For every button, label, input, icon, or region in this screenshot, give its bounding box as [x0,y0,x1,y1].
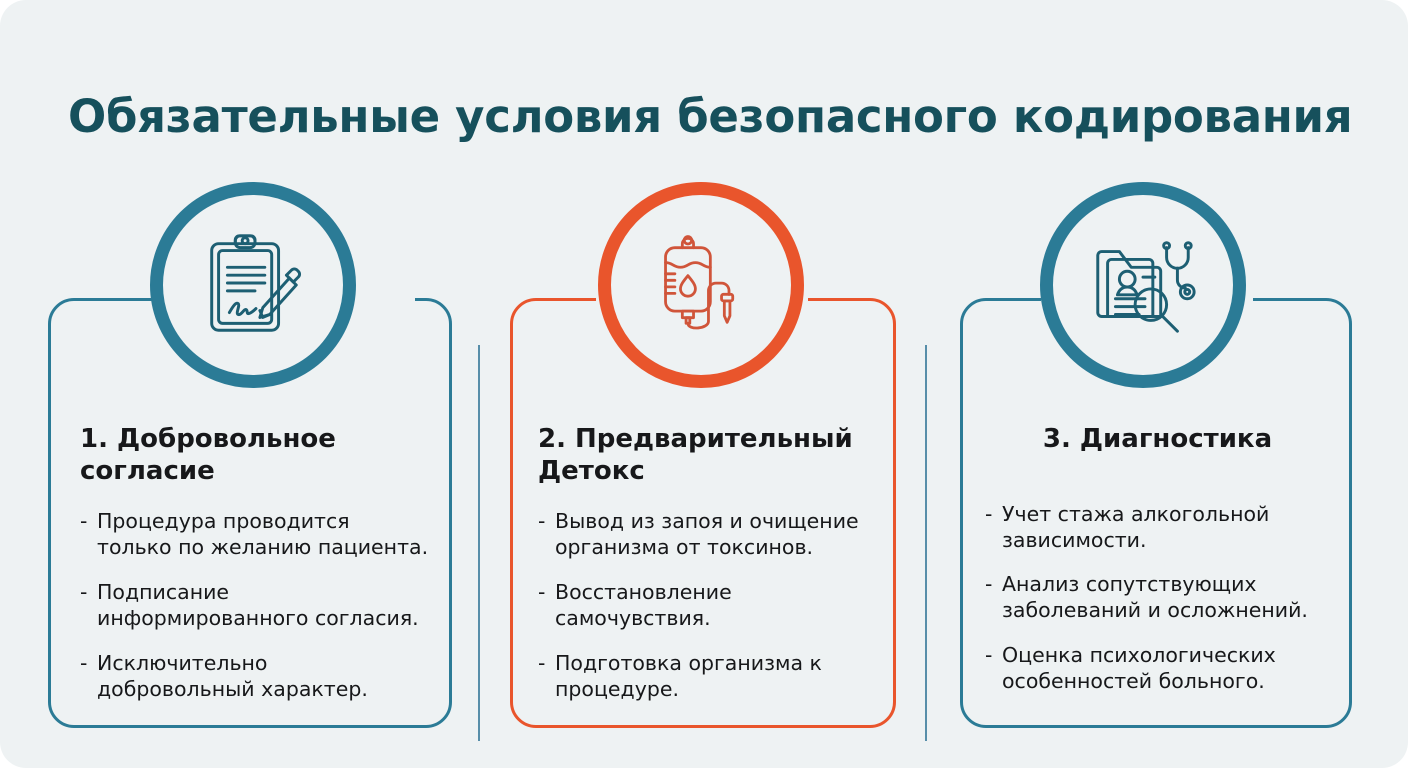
column-divider-2 [925,345,927,741]
infographic-root: Обязательные условия безопасного кодиров… [0,0,1408,768]
bullet-marker: - [985,643,992,669]
list-item: - Подписание информированного согласия. [80,580,430,632]
card-3-body: 3. Диагностика - Учет стажа алкогольной … [985,424,1330,695]
list-item-text: Процедура проводится только по желанию п… [97,509,428,559]
card-3-heading: 3. Диагностика [985,424,1330,456]
bullet-marker: - [538,580,545,606]
infographic-panel: Обязательные условия безопасного кодиров… [0,0,1408,768]
list-item: - Оценка психологических особенностей бо… [985,643,1330,695]
card-2-bullet-list: - Вывод из запоя и очищение организма от… [538,509,883,702]
list-item: - Подготовка организма к процедуре. [538,651,883,703]
clipboard-signature-pen-icon [194,226,312,344]
list-item: - Восстановление самочувствия. [538,580,883,632]
card-1-body: 1. Добровольное согласие - Процедура про… [80,424,430,702]
list-item-text: Вывод из запоя и очищение организма от т… [555,509,859,559]
card-1-heading: 1. Добровольное согласие [80,424,430,487]
card-2-body: 2. Предварительный Детокс - Вывод из зап… [538,424,883,702]
icon-badge-2 [598,182,804,388]
card-2-heading: 2. Предварительный Детокс [538,424,883,487]
list-item: - Вывод из запоя и очищение организма от… [538,509,883,561]
list-item-text: Анализ сопутствующих заболеваний и ослож… [1002,572,1308,622]
bullet-marker: - [538,651,545,677]
page-title: Обязательные условия безопасного кодиров… [68,92,1358,142]
list-item: - Исключительно добровольный характер. [80,651,430,703]
icon-badge-3 [1040,182,1246,388]
bullet-marker: - [985,502,992,528]
list-item-text: Подписание информированного согласия. [97,580,419,630]
patient-file-magnifier-stethoscope-icon [1084,226,1202,344]
list-item: - Учет стажа алкогольной зависимости. [985,502,1330,554]
list-item-text: Исключительно добровольный характер. [97,651,368,701]
bullet-marker: - [80,509,87,535]
list-item-text: Учет стажа алкогольной зависимости. [1002,502,1269,552]
list-item-text: Подготовка организма к процедуре. [555,651,822,701]
list-item-text: Оценка психологических особенностей боль… [1002,643,1276,693]
list-item-text: Восстановление самочувствия. [555,580,732,630]
list-item: - Процедура проводится только по желанию… [80,509,430,561]
column-divider-1 [478,345,480,741]
card-1-bullet-list: - Процедура проводится только по желанию… [80,509,430,702]
icon-badge-1 [150,182,356,388]
iv-drip-bag-icon [645,229,757,341]
bullet-marker: - [80,651,87,677]
bullet-marker: - [80,580,87,606]
card-3-bullet-list: - Учет стажа алкогольной зависимости. - … [985,502,1330,695]
list-item: - Анализ сопутствующих заболеваний и осл… [985,572,1330,624]
bullet-marker: - [985,572,992,598]
bullet-marker: - [538,509,545,535]
